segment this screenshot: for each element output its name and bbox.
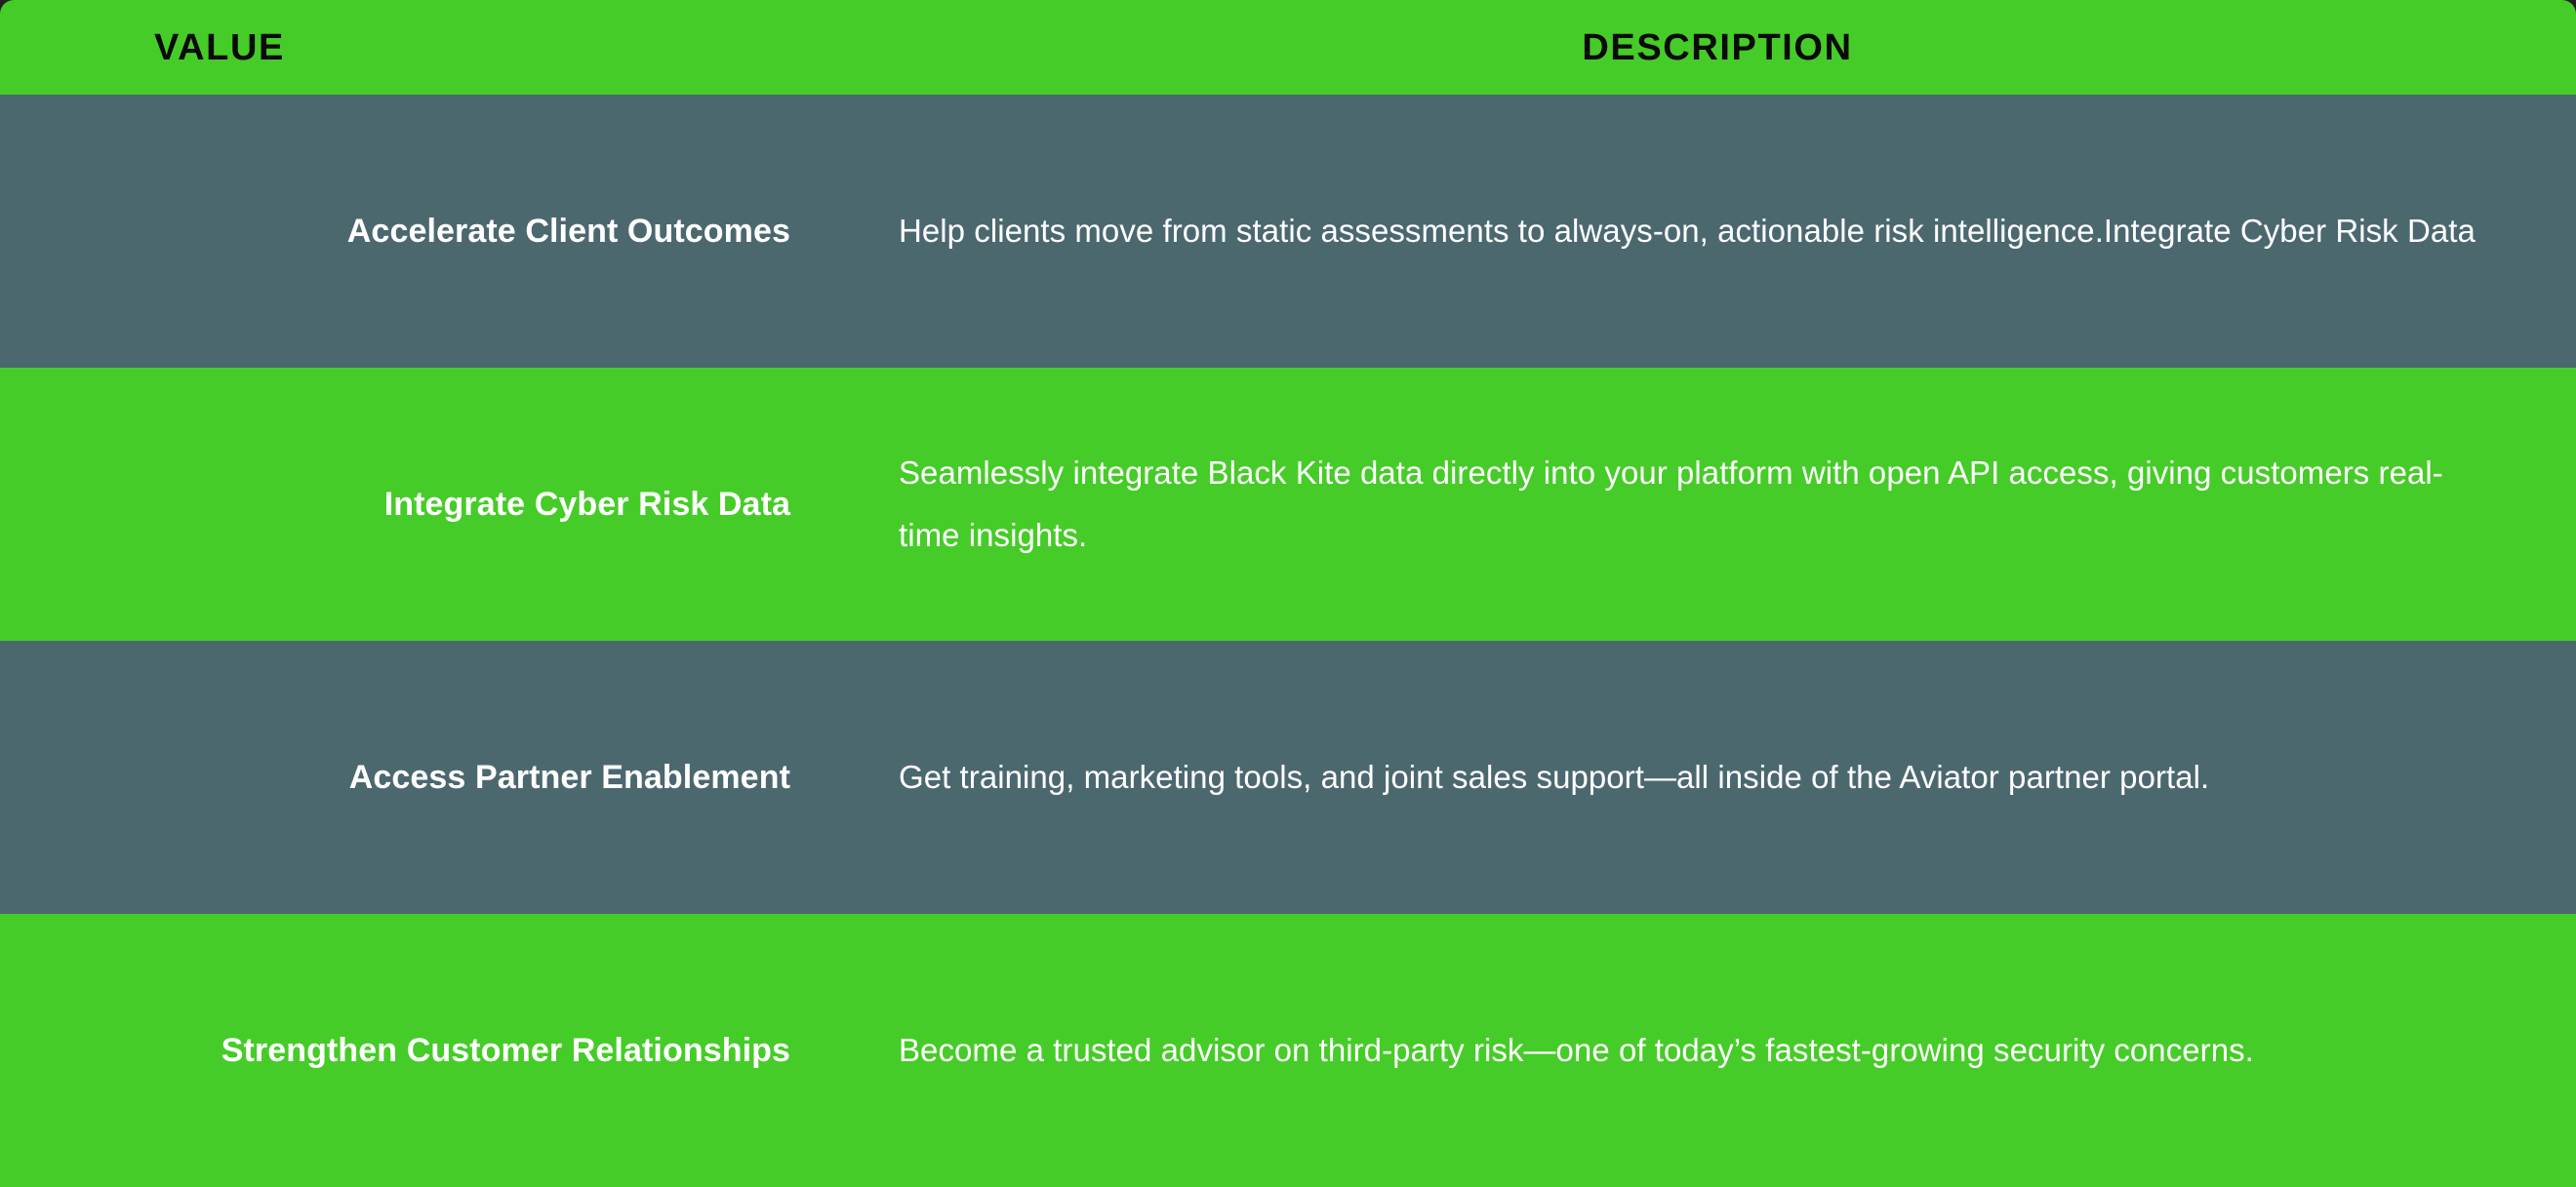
row-description-cell: Help clients move from static assessment… <box>859 95 2576 368</box>
table-header: VALUE DESCRIPTION <box>0 0 2576 95</box>
table-row: Strengthen Customer Relationships Become… <box>0 914 2576 1187</box>
table-header-row: VALUE DESCRIPTION <box>0 0 2576 95</box>
table-row: Integrate Cyber Risk Data Seamlessly int… <box>0 368 2576 641</box>
row-value-cell: Strengthen Customer Relationships <box>0 914 859 1187</box>
row-value-cell: Access Partner Enablement <box>0 641 859 914</box>
row-value-cell: Integrate Cyber Risk Data <box>0 368 859 641</box>
value-description-table-container: VALUE DESCRIPTION Accelerate Client Outc… <box>0 0 2576 1186</box>
row-description-cell: Get training, marketing tools, and joint… <box>859 641 2576 914</box>
table-row: Accelerate Client Outcomes Help clients … <box>0 95 2576 368</box>
value-description-table: VALUE DESCRIPTION Accelerate Client Outc… <box>0 0 2576 1187</box>
row-description-cell: Seamlessly integrate Black Kite data dir… <box>859 368 2576 641</box>
table-body: Accelerate Client Outcomes Help clients … <box>0 95 2576 1187</box>
table-row: Access Partner Enablement Get training, … <box>0 641 2576 914</box>
column-header-value: VALUE <box>0 0 859 95</box>
row-description-cell: Become a trusted advisor on third-party … <box>859 914 2576 1187</box>
row-value-cell: Accelerate Client Outcomes <box>0 95 859 368</box>
column-header-description: DESCRIPTION <box>859 0 2576 95</box>
